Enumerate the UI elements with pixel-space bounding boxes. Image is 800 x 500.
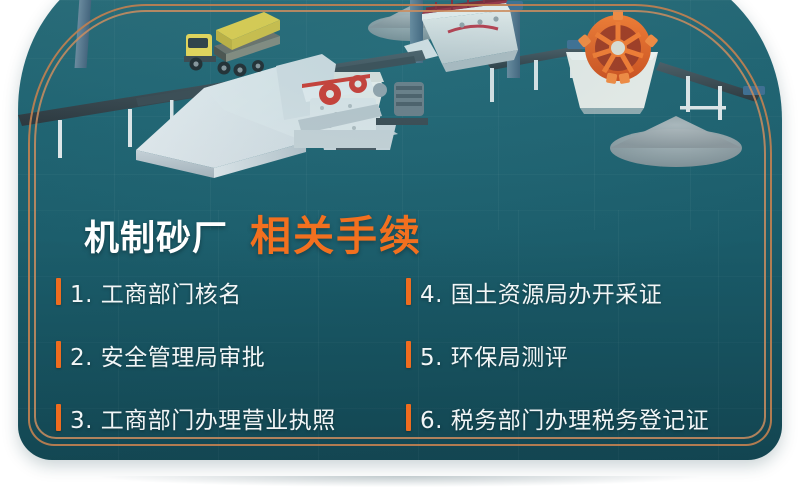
list-item: 1. 工商部门核名	[56, 260, 406, 323]
infographic-banner: 机制砂厂 相关手续 1. 工商部门核名 4. 国土资源局办开采证 2. 安全管理…	[0, 0, 800, 500]
bullet-bar-icon	[406, 278, 411, 305]
list-item-label: 4. 国土资源局办开采证	[420, 275, 662, 309]
list-item-label: 3. 工商部门办理营业执照	[70, 401, 336, 435]
bullet-bar-icon	[56, 404, 61, 431]
panel-drop-shadow	[40, 476, 760, 492]
bullet-bar-icon	[406, 404, 411, 431]
headline: 机制砂厂 相关手续	[84, 202, 422, 262]
procedure-list: 1. 工商部门核名 4. 国土资源局办开采证 2. 安全管理局审批 5. 环保局…	[56, 260, 780, 449]
bullet-bar-icon	[406, 341, 411, 368]
list-item: 3. 工商部门办理营业执照	[56, 386, 406, 449]
list-item: 5. 环保局测评	[406, 323, 780, 386]
bucket-wheel-sand-washer	[566, 10, 658, 114]
teal-panel: 机制砂厂 相关手续 1. 工商部门核名 4. 国土资源局办开采证 2. 安全管理…	[18, 0, 782, 460]
list-item: 2. 安全管理局审批	[56, 323, 406, 386]
list-item-label: 2. 安全管理局审批	[70, 338, 265, 372]
list-item: 6. 税务部门办理税务登记证	[406, 386, 780, 449]
bullet-bar-icon	[56, 341, 61, 368]
bullet-bar-icon	[56, 278, 61, 305]
list-item-label: 5. 环保局测评	[420, 338, 568, 372]
support-column	[75, 0, 95, 68]
headline-emphasis: 相关手续	[250, 202, 422, 262]
list-item-label: 6. 税务部门办理税务登记证	[420, 401, 709, 435]
dump-truck	[184, 12, 280, 77]
belt-conveyor	[656, 62, 765, 120]
headline-subject: 机制砂厂	[84, 210, 228, 261]
sand-plant-illustration	[18, 0, 782, 205]
list-item-label: 1. 工商部门核名	[70, 275, 242, 309]
list-item: 4. 国土资源局办开采证	[406, 260, 780, 323]
gravel-pile	[610, 116, 742, 167]
